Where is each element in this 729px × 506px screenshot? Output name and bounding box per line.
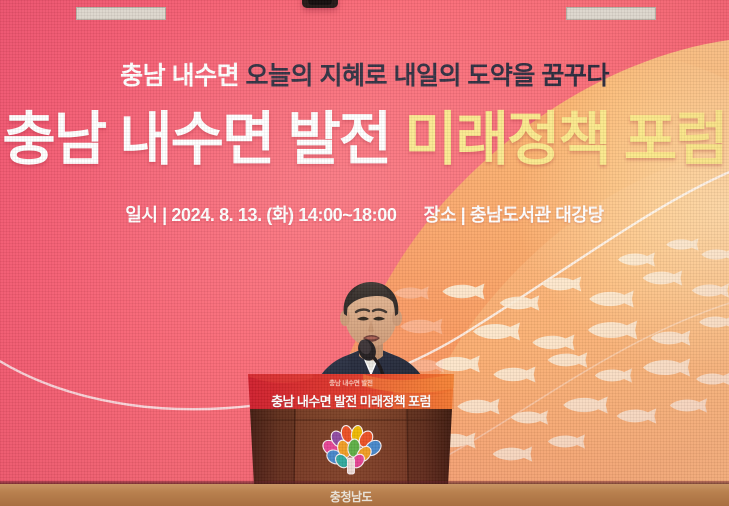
info-place-label: 장소 <box>424 205 456 225</box>
info-separator-1: | <box>162 205 167 225</box>
podium-banner-caption: 충남 내수면 발전 <box>243 377 459 387</box>
ceiling-fixture <box>302 0 338 8</box>
info-date-label: 일시 <box>125 205 157 225</box>
podium-logo-caption: 충청남도 <box>243 488 459 506</box>
title-part-white: 충남 내수면 발전 <box>2 107 390 172</box>
floor-vent-left <box>76 7 166 20</box>
backdrop-info-line: 일시 | 2024. 8. 13. (화) 14:00~18:00 장소 | 충… <box>0 201 729 227</box>
info-date-value: 2024. 8. 13. (화) 14:00~18:00 <box>171 205 396 225</box>
info-place-value: 충남도서관 대강당 <box>470 205 604 225</box>
title-part-yellow: 미래정책 포럼 <box>404 107 726 172</box>
podium-banner-text: 충남 내수면 발전 미래정책 포럼 <box>243 391 459 410</box>
info-separator-2: | <box>461 205 466 225</box>
floor-vent-right <box>566 7 656 20</box>
backdrop-subtitle: 충남 내수면 오늘의 지혜로 내일의 도약을 꿈꾸다 <box>0 56 729 92</box>
backdrop-title: 충남 내수면 발전 미래정책 포럼 <box>0 104 729 176</box>
event-photo: 충남 내수면 오늘의 지혜로 내일의 도약을 꿈꾸다 충남 내수면 발전 미래정… <box>0 0 729 506</box>
subtitle-rest: 오늘의 지혜로 내일의 도약을 꿈꾸다 <box>246 62 609 90</box>
subtitle-highlight: 충남 내수면 <box>120 62 239 90</box>
